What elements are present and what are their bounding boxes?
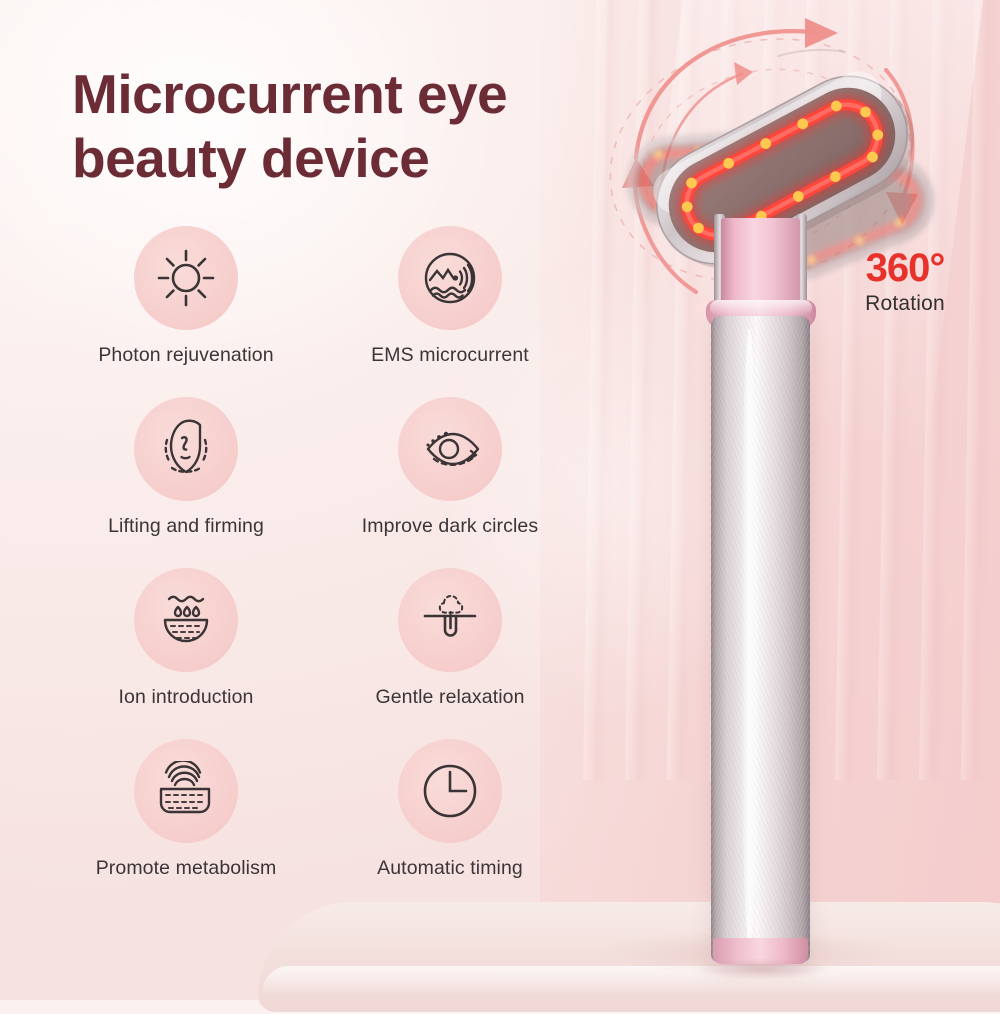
page-title: Microcurrent eye beauty device <box>72 62 672 191</box>
handle-texture <box>711 316 810 962</box>
icon-bubble <box>398 397 502 501</box>
feature-grid: Photon rejuvenation EMS microcurrent <box>58 226 578 880</box>
feature-item-ion-introduction: Ion introduction <box>58 568 314 709</box>
rotation-degrees: 360° <box>842 248 968 288</box>
icon-bubble <box>398 226 502 330</box>
clock-icon <box>419 760 481 822</box>
feature-label: Photon rejuvenation <box>98 344 273 367</box>
sun-icon <box>155 247 217 309</box>
signal-wave-icon <box>418 246 482 310</box>
title-line-1: Microcurrent eye <box>72 62 672 126</box>
icon-bubble <box>134 226 238 330</box>
feature-item-ems-microcurrent: EMS microcurrent <box>322 226 578 367</box>
feature-label: Improve dark circles <box>362 515 538 538</box>
feature-label: Automatic timing <box>377 857 523 880</box>
feature-item-improve-dark-circles: Improve dark circles <box>322 397 578 538</box>
feature-label: Gentle relaxation <box>375 686 524 709</box>
feature-label: EMS microcurrent <box>371 344 529 367</box>
feature-label: Promote metabolism <box>96 857 277 880</box>
feature-label: Ion introduction <box>119 686 254 709</box>
rotation-label: 360° Rotation <box>842 248 968 316</box>
skin-wave-icon <box>153 761 219 821</box>
icon-bubble <box>134 397 238 501</box>
feature-item-promote-metabolism: Promote metabolism <box>58 739 314 880</box>
icon-bubble <box>398 739 502 843</box>
pore-follicle-icon <box>419 589 481 651</box>
icon-bubble <box>398 568 502 672</box>
eye-icon <box>416 421 484 477</box>
title-line-2: beauty device <box>72 126 672 190</box>
feature-item-photon-rejuvenation: Photon rejuvenation <box>58 226 314 367</box>
feature-item-automatic-timing: Automatic timing <box>322 739 578 880</box>
icon-bubble <box>134 739 238 843</box>
face-profile-icon <box>155 416 217 482</box>
water-absorb-icon <box>153 591 219 649</box>
device-base-shadow <box>696 958 828 980</box>
handle-highlight <box>741 329 758 949</box>
feature-item-gentle-relaxation: Gentle relaxation <box>322 568 578 709</box>
feature-label: Lifting and firming <box>108 515 264 538</box>
rotation-caption: Rotation <box>842 292 968 316</box>
feature-item-lifting-firming: Lifting and firming <box>58 397 314 538</box>
collar-highlight <box>710 300 812 316</box>
device-handle <box>711 316 810 962</box>
icon-bubble <box>134 568 238 672</box>
